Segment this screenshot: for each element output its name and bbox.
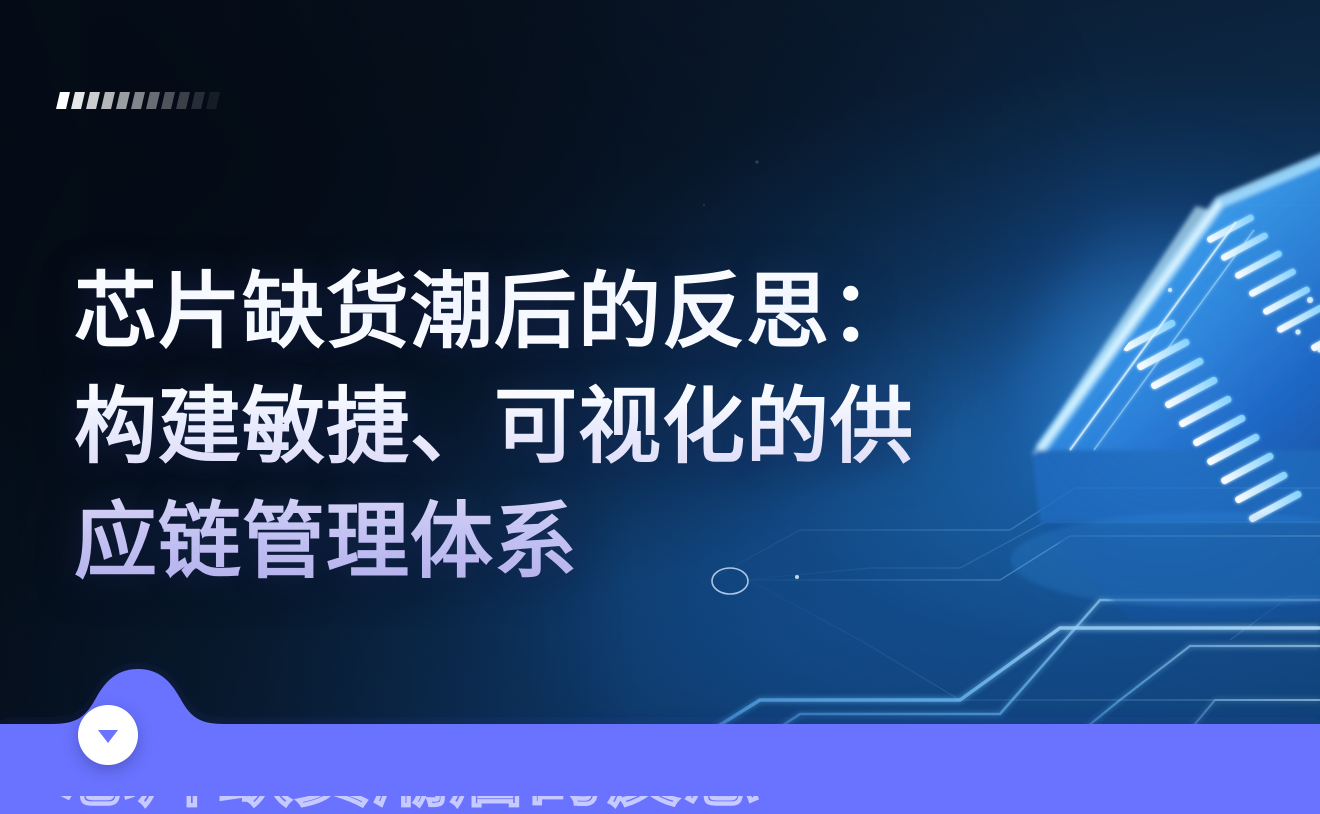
caret-down-icon bbox=[98, 730, 118, 743]
bottom-clipped-heading: 芯片缺货潮后的反思 bbox=[0, 796, 1320, 814]
dash-tick bbox=[71, 92, 85, 109]
dash-tick bbox=[176, 92, 190, 109]
dash-tick bbox=[161, 92, 175, 109]
dash-tick bbox=[131, 92, 145, 109]
fading-dash-row bbox=[58, 92, 218, 109]
dash-tick bbox=[191, 92, 205, 109]
dash-tick bbox=[116, 92, 130, 109]
dash-tick bbox=[101, 92, 115, 109]
dash-tick bbox=[56, 92, 70, 109]
page-title: 芯片缺货潮后的反思： 构建敏捷、可视化的供 应链管理体系 bbox=[74, 254, 1084, 599]
cover-banner: 芯片缺货潮后的反思： 构建敏捷、可视化的供 应链管理体系 芯片缺货潮后的反思 bbox=[0, 0, 1320, 814]
dash-tick bbox=[86, 92, 100, 109]
bottom-heading-text: 芯片缺货潮后的反思 bbox=[60, 796, 762, 814]
dash-tick bbox=[146, 92, 160, 109]
scroll-down-button[interactable] bbox=[78, 705, 138, 765]
dash-tick bbox=[206, 92, 220, 109]
